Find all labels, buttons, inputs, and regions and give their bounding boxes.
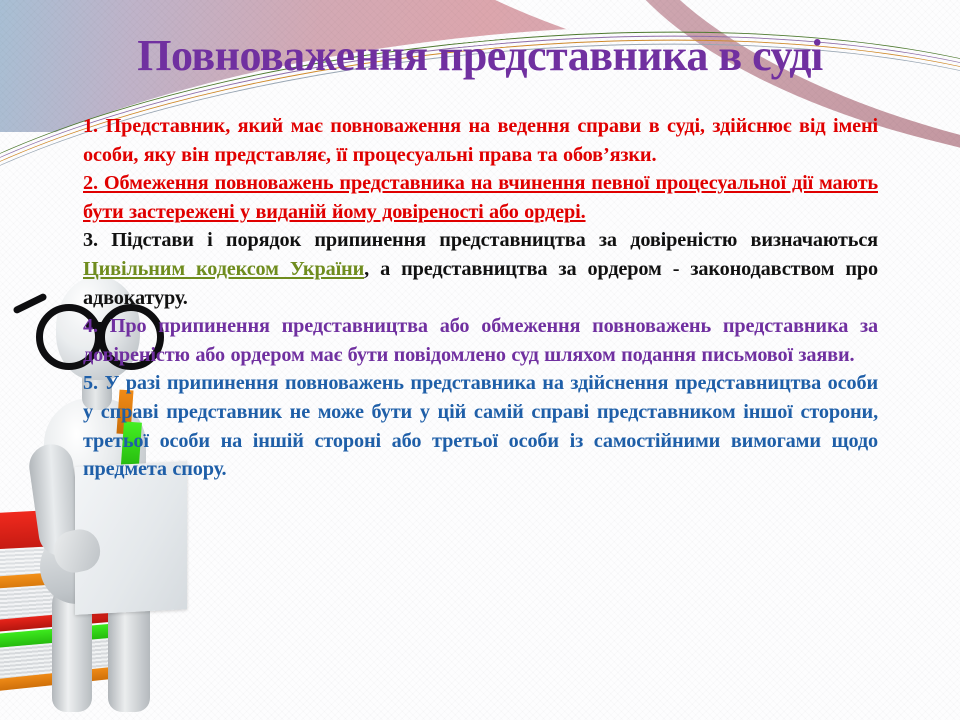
civil-code-link[interactable]: Цивільним кодексом України (83, 258, 364, 280)
paragraph-4: 4. Про припинення представництва або обм… (83, 312, 878, 369)
glasses-temple (12, 292, 47, 314)
body-text-block: 1. Представник, який має повноваження на… (83, 112, 878, 484)
slide-title: Повноваження представника в суді (0, 34, 960, 78)
paragraph-5: 5. У разі припинення повноважень предста… (83, 369, 878, 483)
paragraph-3-text-before: 3. Підстави і порядок припинення предста… (83, 229, 878, 251)
paragraph-1: 1. Представник, який має повноваження на… (83, 112, 878, 169)
slide-canvas: Повноваження представника в суді (0, 0, 960, 720)
paragraph-3: 3. Підстави і порядок припинення предста… (83, 226, 878, 312)
paragraph-2: 2. Обмеження повноважень представника на… (83, 169, 878, 226)
